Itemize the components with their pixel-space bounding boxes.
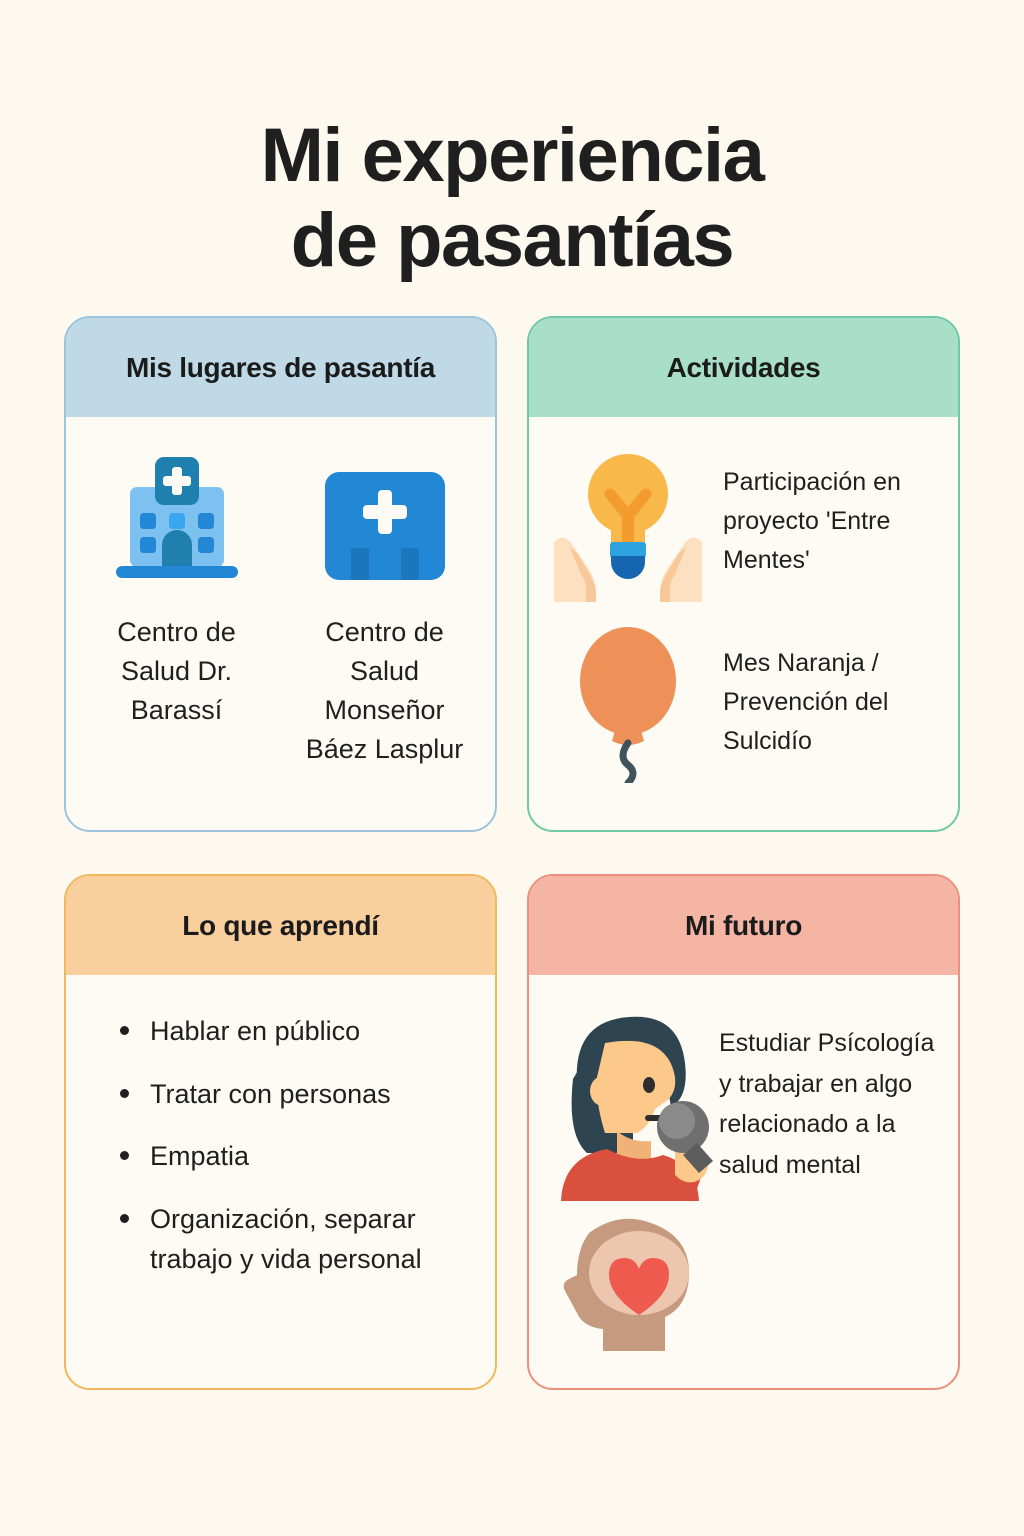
activity-item: Participación en proyecto 'Entre Mentes' <box>543 439 938 604</box>
card-lugares-header: Mis lugares de pasantía <box>66 318 495 417</box>
card-futuro-body: Estudiar Psícología y trabajar en algo r… <box>529 975 958 1388</box>
activity-item: Mes Naranja / Prevención del Sulcidío <box>543 620 938 785</box>
card-aprendi: Lo que aprendí Hablar en público Tratar … <box>64 874 497 1390</box>
card-actividades-header: Actividades <box>529 318 958 417</box>
card-lugares-body: Centro de Salud Dr. Barassí Centro de Sa… <box>66 417 495 830</box>
future-content: Estudiar Psícología y trabajar en algo r… <box>529 975 958 1351</box>
list-item: Organización, separar trabajo y vida per… <box>120 1199 467 1280</box>
card-futuro-header: Mi futuro <box>529 876 958 975</box>
card-aprendi-header: Lo que aprendí <box>66 876 495 975</box>
future-icons <box>539 999 715 1351</box>
card-actividades-body: Participación en proyecto 'Entre Mentes'… <box>529 417 958 830</box>
card-grid: Mis lugares de pasantía <box>64 316 955 1390</box>
page-title-line-1: Mi experiencia <box>0 113 1024 198</box>
list-item: Tratar con personas <box>120 1074 467 1115</box>
place-item: Centro de Salud Dr. Barassí <box>87 449 267 770</box>
list-item: Hablar en público <box>120 1011 467 1052</box>
future-text: Estudiar Psícología y trabajar en algo r… <box>719 999 942 1351</box>
place-label: Centro de Salud Dr. Barassí <box>87 613 267 730</box>
card-aprendi-body: Hablar en público Tratar con personas Em… <box>66 975 495 1388</box>
page-title: Mi experiencia de pasantías <box>0 113 1024 283</box>
lightbulb-in-hands-icon <box>543 439 713 604</box>
hospital-square-icon <box>321 449 449 599</box>
hospital-building-icon <box>102 449 252 599</box>
activities-list: Participación en proyecto 'Entre Mentes'… <box>529 417 958 785</box>
card-lugares: Mis lugares de pasantía <box>64 316 497 832</box>
activity-text: Mes Naranja / Prevención del Sulcidío <box>723 644 938 760</box>
card-futuro: Mi futuro <box>527 874 960 1390</box>
places-list: Centro de Salud Dr. Barassí Centro de Sa… <box>66 417 495 770</box>
balloon-icon <box>543 620 713 785</box>
page-title-line-2: de pasantías <box>0 198 1024 283</box>
woman-with-microphone-icon <box>541 1005 713 1201</box>
learnings-list: Hablar en público Tratar con personas Em… <box>66 975 495 1280</box>
head-with-heart-icon <box>543 1211 711 1351</box>
card-actividades: Actividades <box>527 316 960 832</box>
place-item: Centro de Salud Monseñor Báez Lasplur <box>295 449 475 770</box>
activity-text: Participación en proyecto 'Entre Mentes' <box>723 463 938 579</box>
place-label: Centro de Salud Monseñor Báez Lasplur <box>295 613 475 770</box>
list-item: Empatia <box>120 1136 467 1177</box>
